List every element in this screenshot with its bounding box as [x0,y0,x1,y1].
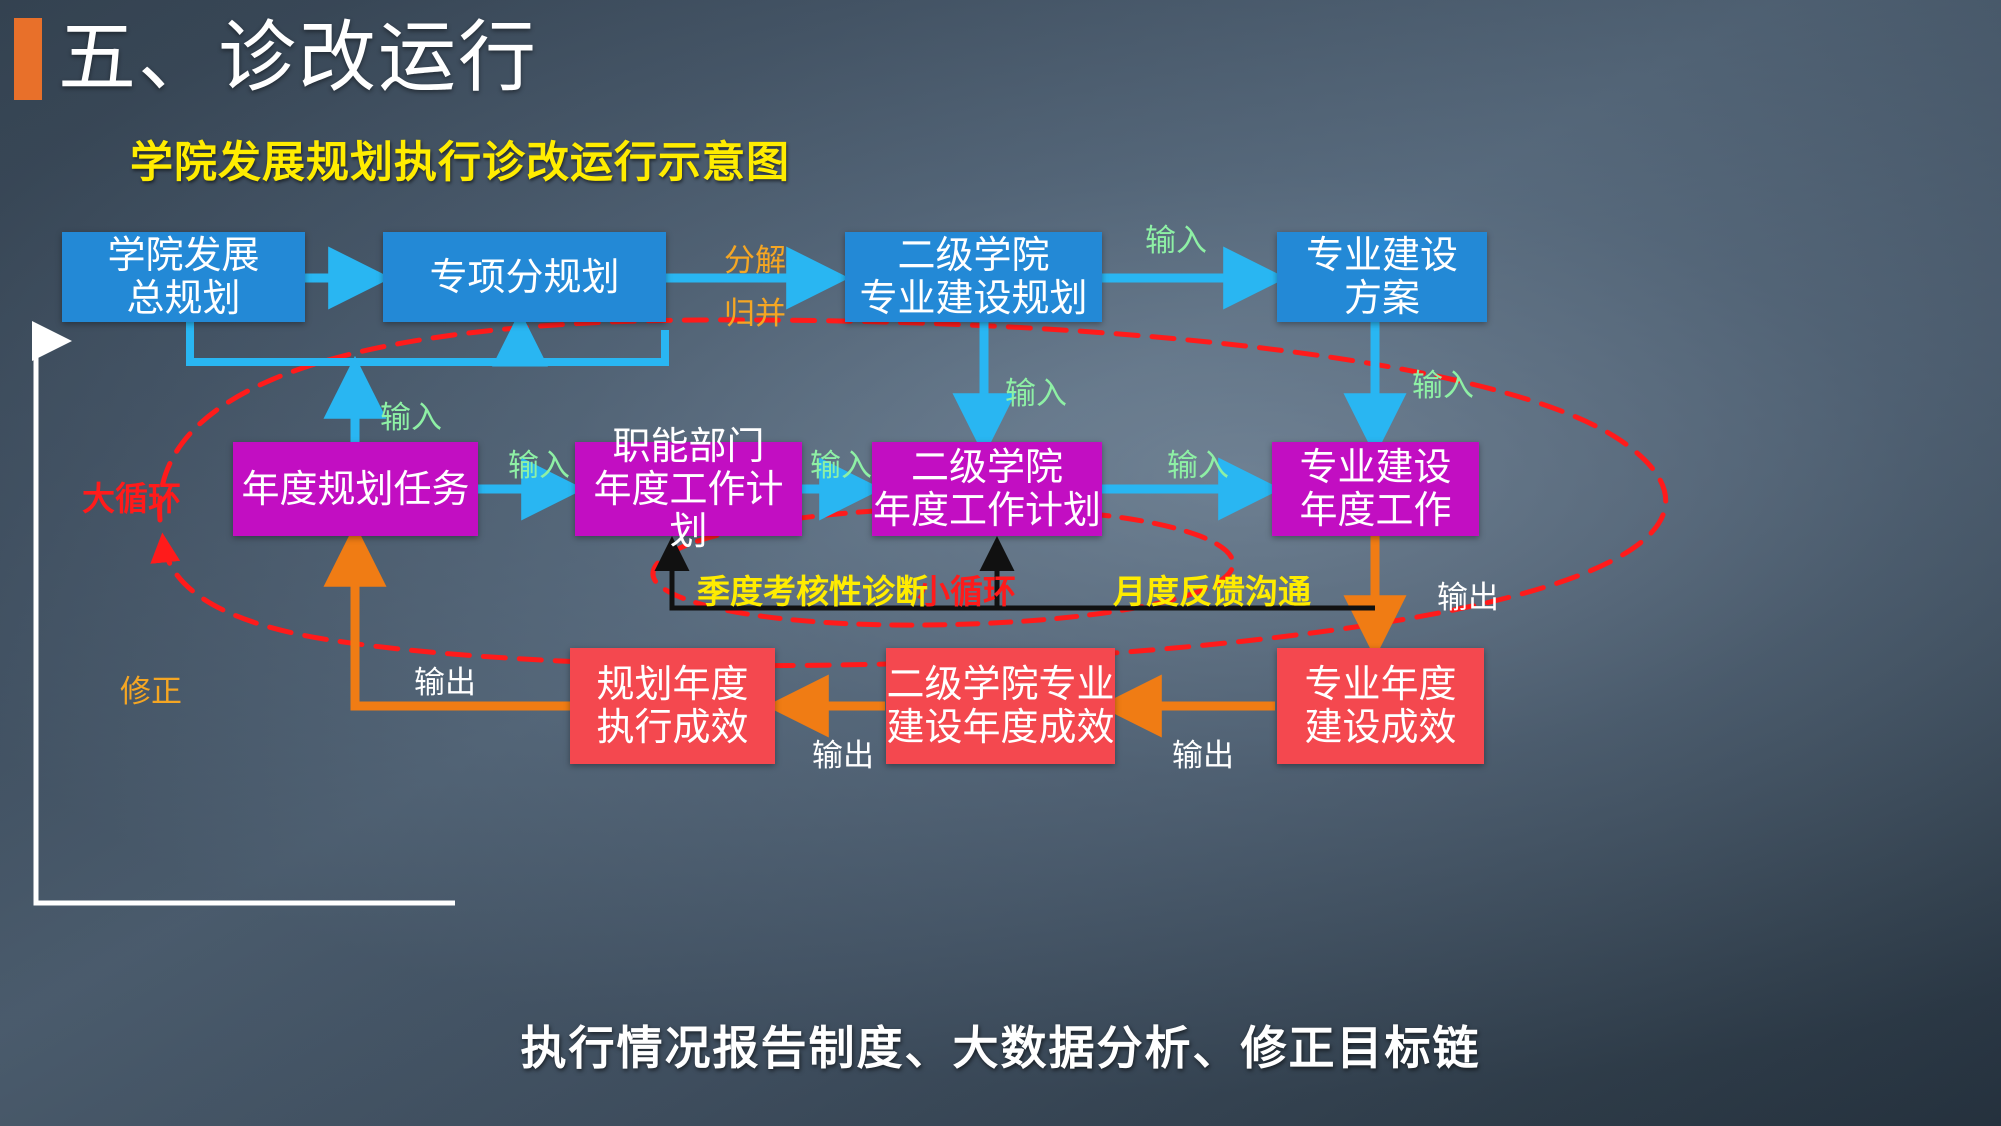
annotation-big-cycle: 大循环 [82,472,181,520]
edge-label-input-annual-task: 输入 [380,392,442,437]
node-plan-annual-result[interactable]: 规划年度 执行成效 [570,648,775,764]
footer-caption: 执行情况报告制度、大数据分析、修正目标链 [0,1012,2001,1078]
flow-arrows-orange [355,534,1375,706]
node-special-subplan[interactable]: 专项分规划 [383,232,666,322]
node-overall-plan[interactable]: 学院发展 总规划 [62,232,305,322]
annotation-small-cycle: 小循环 [917,565,1016,613]
edge-label-decompose: 分解 [724,235,786,280]
edge-label-input-college-work: 输入 [1005,368,1067,413]
node-college-major-annual-result[interactable]: 二级学院专业 建设年度成效 [886,648,1115,764]
edge-label-input-department: 输入 [508,440,570,485]
edge-label-input-scheme: 输入 [1145,215,1207,260]
node-major-construction-scheme[interactable]: 专业建设 方案 [1277,232,1487,322]
slide-canvas: 五、诊改运行 学院发展规划执行诊改运行示意图 [0,0,2001,1126]
edge-label-input-college: 输入 [810,440,872,485]
annotation-monthly-feedback: 月度反馈沟通 [1113,565,1311,613]
diagram-title: 学院发展规划执行诊改运行示意图 [130,128,790,190]
annotation-quarterly-diagnosis: 季度考核性诊断 [697,565,928,613]
node-annual-plan-task[interactable]: 年度规划任务 [233,442,478,536]
accent-bar [14,18,42,100]
node-college-major-plan[interactable]: 二级学院 专业建设规划 [845,232,1102,322]
node-department-annual-workplan[interactable]: 职能部门 年度工作计划 [575,442,802,536]
node-major-annual-work[interactable]: 专业建设 年度工作 [1272,442,1479,536]
node-college-annual-workplan[interactable]: 二级学院 年度工作计划 [872,442,1102,536]
edge-label-output-plan: 输出 [812,730,874,775]
edge-label-correction: 修正 [120,666,182,711]
edge-label-output-task: 输出 [414,657,476,702]
edge-label-merge: 归并 [724,288,786,333]
node-major-annual-result[interactable]: 专业年度 建设成效 [1277,648,1484,764]
edge-label-input-major-work: 输入 [1412,360,1474,405]
edge-label-output-college: 输出 [1172,730,1234,775]
page-title: 五、诊改运行 [58,12,538,104]
edge-label-output-major: 输出 [1437,572,1499,617]
edge-label-input-major: 输入 [1167,440,1229,485]
